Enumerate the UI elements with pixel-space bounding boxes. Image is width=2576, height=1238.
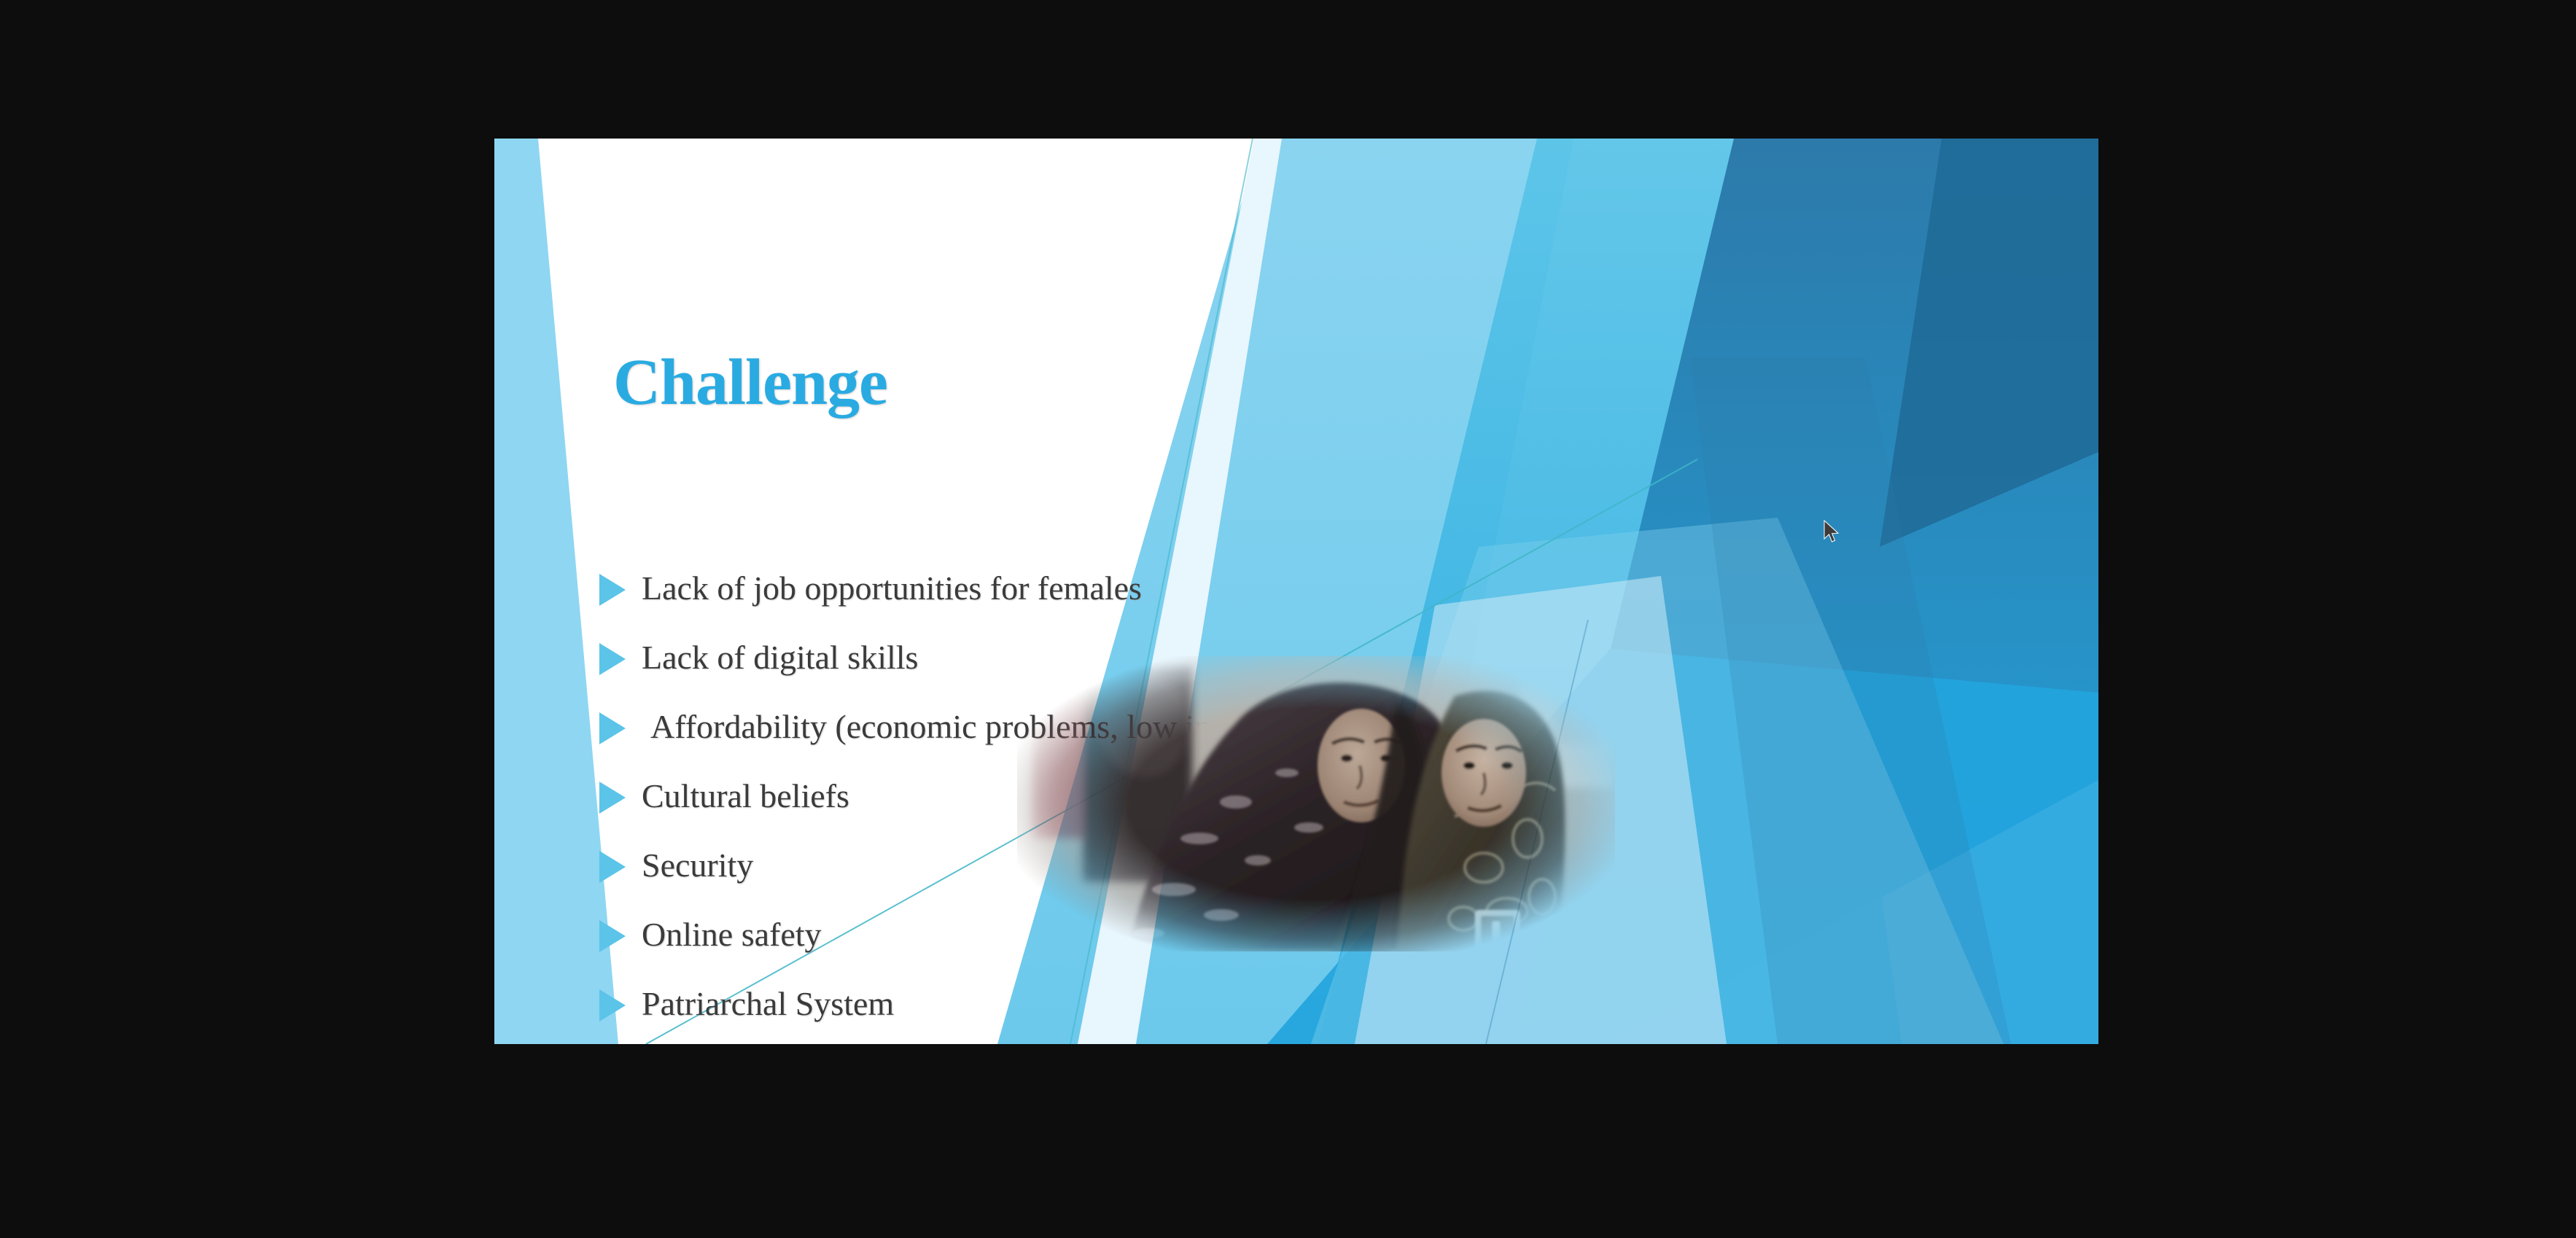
list-item-label: Online safety: [642, 917, 822, 952]
slide-photo[interactable]: [1017, 656, 1615, 951]
list-item-label: Cultural beliefs: [642, 779, 849, 814]
presentation-viewer: Challenge Lack of job opportunities for …: [0, 0, 2576, 1238]
list-item-label: Lack of digital skills: [642, 640, 918, 675]
triangle-right-icon: [596, 849, 630, 883]
decoration-overlay-shard-2: [1690, 357, 2011, 1044]
slide-canvas[interactable]: Challenge Lack of job opportunities for …: [494, 139, 2098, 1044]
photo-illustration: [1017, 656, 1615, 951]
list-item: Patriarchal System: [596, 970, 1617, 1039]
list-item-label: Lack of job opportunities for females: [642, 571, 1142, 606]
list-item-label: Security: [642, 848, 753, 883]
list-item: Lack of job opportunities for females: [596, 554, 1617, 623]
triangle-right-icon: [596, 919, 630, 952]
triangle-right-icon: [596, 780, 630, 814]
slide-title: Challenge: [613, 350, 887, 416]
triangle-right-icon: [596, 642, 630, 675]
list-item-label: Patriarchal System: [642, 986, 894, 1021]
decoration-accent-deep: [1880, 139, 2098, 547]
triangle-right-icon: [596, 988, 630, 1021]
triangle-right-icon: [596, 711, 630, 744]
triangle-right-icon: [596, 572, 630, 606]
photo-frame: [1017, 656, 1615, 951]
